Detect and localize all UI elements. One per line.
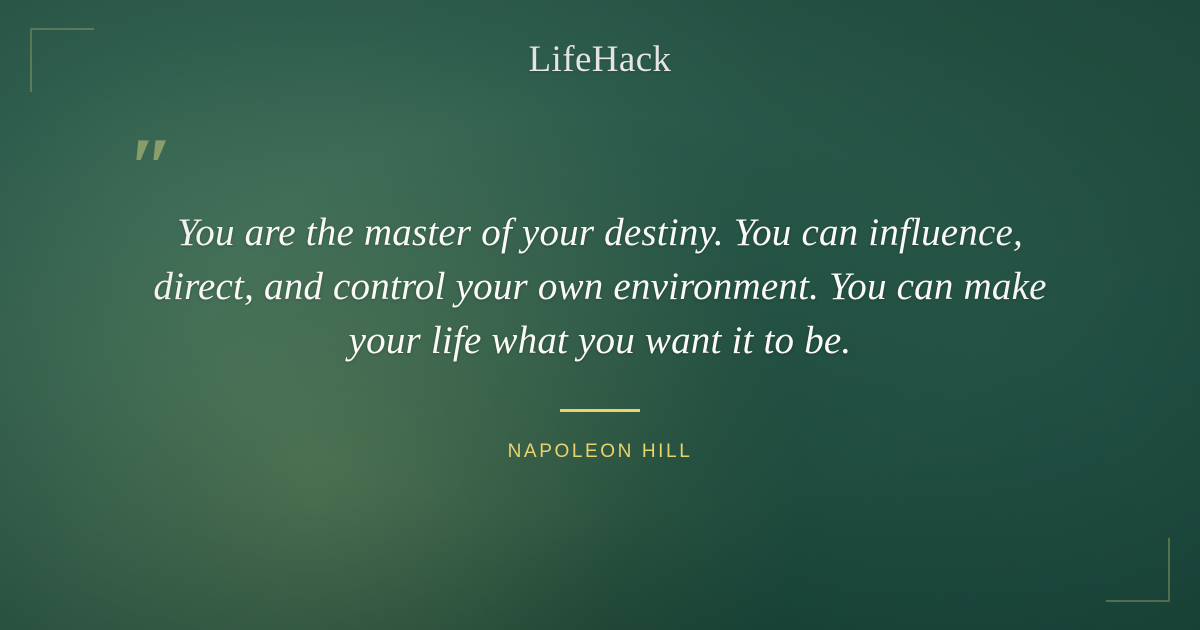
quotation-mark-icon: ″ — [128, 126, 174, 210]
brand-logo: LifeHack — [0, 38, 1200, 82]
divider-rule — [560, 409, 640, 412]
quote-card: LifeHack ″ You are the master of your de… — [0, 0, 1200, 630]
quote-line: direct, and control your own environment… — [100, 260, 1100, 314]
quote-text: You are the master of your destiny. You … — [100, 206, 1100, 368]
corner-bracket-bottom-right — [1106, 538, 1170, 602]
quote-line: You are the master of your destiny. You … — [100, 206, 1100, 260]
quote-line: your life what you want it to be. — [100, 314, 1100, 368]
author-attribution: NAPOLEON HILL — [0, 440, 1200, 464]
quote-block: You are the master of your destiny. You … — [100, 206, 1100, 368]
